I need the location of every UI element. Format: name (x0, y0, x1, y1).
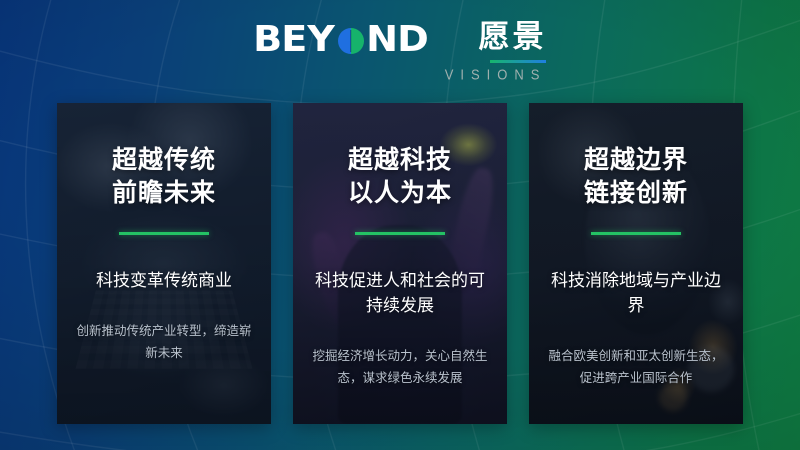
card-divider (591, 232, 681, 235)
card-title-line1: 超越科技 (348, 143, 452, 176)
wordmark-letter-n: N (366, 22, 399, 58)
card-row: 超越传统 前瞻未来 科技变革传统商业 创新推动传统产业转型，缔造崭新未来 超越科… (57, 103, 743, 424)
card-subtitle: 科技变革传统商业 (96, 269, 232, 294)
card-title-line1: 超越边界 (584, 143, 688, 176)
card-title: 超越科技 以人为本 (348, 143, 452, 209)
card-divider (355, 232, 445, 235)
card-title-line1: 超越传统 (112, 143, 216, 176)
logo-tagline: VISIONS (445, 67, 547, 83)
wordmark-letter-b: B (253, 22, 283, 58)
wordmark-letter-d: D (397, 22, 430, 58)
card-title-line2: 前瞻未来 (112, 176, 216, 209)
card-subtitle: 科技促进人和社会的可持续发展 (307, 269, 493, 319)
card-title: 超越边界 链接创新 (584, 143, 688, 209)
wordmark-letter-e: E (281, 22, 308, 58)
card-tradition[interactable]: 超越传统 前瞻未来 科技变革传统商业 创新推动传统产业转型，缔造崭新未来 (57, 103, 271, 424)
card-title-line2: 链接创新 (584, 176, 688, 209)
slide-canvas: B E Y N D 愿景 VISIONS 超越传统 (0, 0, 800, 450)
card-title-line2: 以人为本 (348, 176, 452, 209)
logo-chinese-block: 愿景 VISIONS (445, 20, 547, 82)
card-technology[interactable]: 超越科技 以人为本 科技促进人和社会的可持续发展 挖掘经济增长动力，关心自然生态… (293, 103, 507, 424)
card-description: 创新推动传统产业转型，缔造崭新未来 (71, 320, 257, 364)
card-description: 挖掘经济增长动力，关心自然生态，谋求绿色永续发展 (307, 345, 493, 389)
split-circle-icon (338, 28, 364, 54)
wordmark-beyond: B E Y N D (254, 20, 429, 60)
card-divider (119, 232, 209, 235)
card-boundary[interactable]: 超越边界 链接创新 科技消除地域与产业边界 融合欧美创新和亚太创新生态，促进跨产… (529, 103, 743, 424)
logo-gradient-bar (490, 60, 546, 63)
card-title: 超越传统 前瞻未来 (112, 143, 216, 209)
brand-logo: B E Y N D 愿景 VISIONS (0, 20, 800, 92)
card-subtitle: 科技消除地域与产业边界 (543, 269, 729, 319)
wordmark-letter-y: Y (307, 22, 336, 58)
card-description: 融合欧美创新和亚太创新生态，促进跨产业国际合作 (543, 345, 729, 389)
logo-chinese-name: 愿景 (478, 20, 546, 54)
